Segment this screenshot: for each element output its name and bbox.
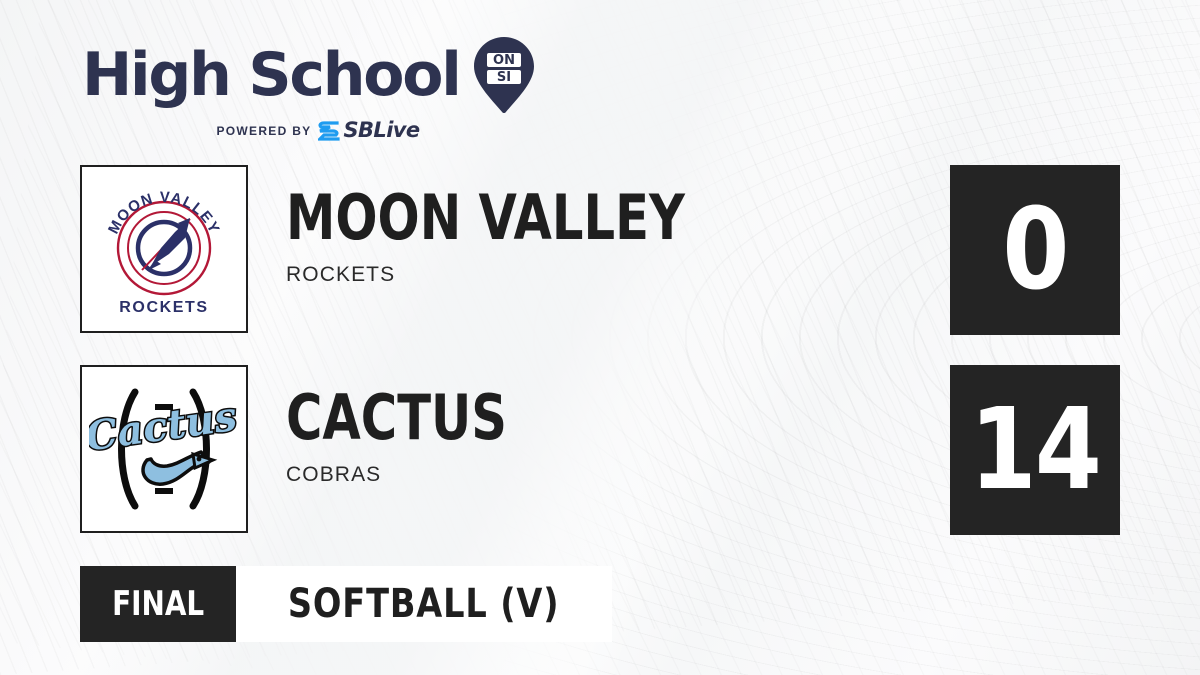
- brand-title-row: High School ON SI: [82, 36, 512, 114]
- score-box-away: 14: [950, 365, 1120, 535]
- score-value-away: 14: [970, 394, 1101, 506]
- team-text-home: MOON VALLEY ROCKETS: [286, 187, 785, 287]
- team-logo-tile-away: Cactus: [80, 365, 248, 533]
- sblive-mark-icon: [318, 121, 340, 141]
- team-row-away: Cactus CACTUS COBRAS 14: [0, 365, 1200, 535]
- team-mascot-away: COBRAS: [286, 463, 562, 487]
- svg-text:SI: SI: [497, 70, 511, 85]
- score-value-home: 0: [1002, 194, 1067, 306]
- status-bar: FINAL SOFTBALL (V): [80, 566, 612, 642]
- powered-by-label: POWERED BY: [216, 124, 311, 138]
- on-si-pin-icon: ON SI: [472, 36, 536, 114]
- team-name-away: CACTUS: [286, 387, 507, 449]
- game-status-label: FINAL: [112, 584, 204, 624]
- team-text-away: CACTUS COBRAS: [286, 387, 562, 487]
- cactus-cobras-logo-icon: Cactus: [89, 374, 239, 524]
- scoreboard-graphic: High School ON SI POWERED BY: [0, 0, 1200, 675]
- brand-title: High School: [82, 47, 460, 104]
- brand-header: High School ON SI POWERED BY: [82, 36, 512, 141]
- sblive-logo: SBLive: [318, 120, 419, 141]
- team-mascot-home: ROCKETS: [286, 263, 785, 287]
- sport-label: SOFTBALL (V): [288, 581, 560, 627]
- svg-text:ON: ON: [493, 53, 515, 68]
- team-logo-tile-home: MOON VALLEY ROCKETS: [80, 165, 248, 333]
- svg-text:Cactus: Cactus: [89, 393, 239, 461]
- sport-label-panel: SOFTBALL (V): [236, 566, 611, 642]
- svg-text:ROCKETS: ROCKETS: [119, 299, 208, 316]
- powered-by-row: POWERED BY SBLive: [82, 120, 512, 141]
- sblive-wordmark: SBLive: [343, 120, 419, 141]
- team-row-home: MOON VALLEY ROCKETS MOON VALLEY ROCKETS …: [0, 165, 1200, 335]
- team-name-home: MOON VALLEY: [286, 187, 685, 249]
- game-status-badge: FINAL: [80, 566, 236, 642]
- moon-valley-rockets-logo-icon: MOON VALLEY ROCKETS: [89, 174, 239, 324]
- score-box-home: 0: [950, 165, 1120, 335]
